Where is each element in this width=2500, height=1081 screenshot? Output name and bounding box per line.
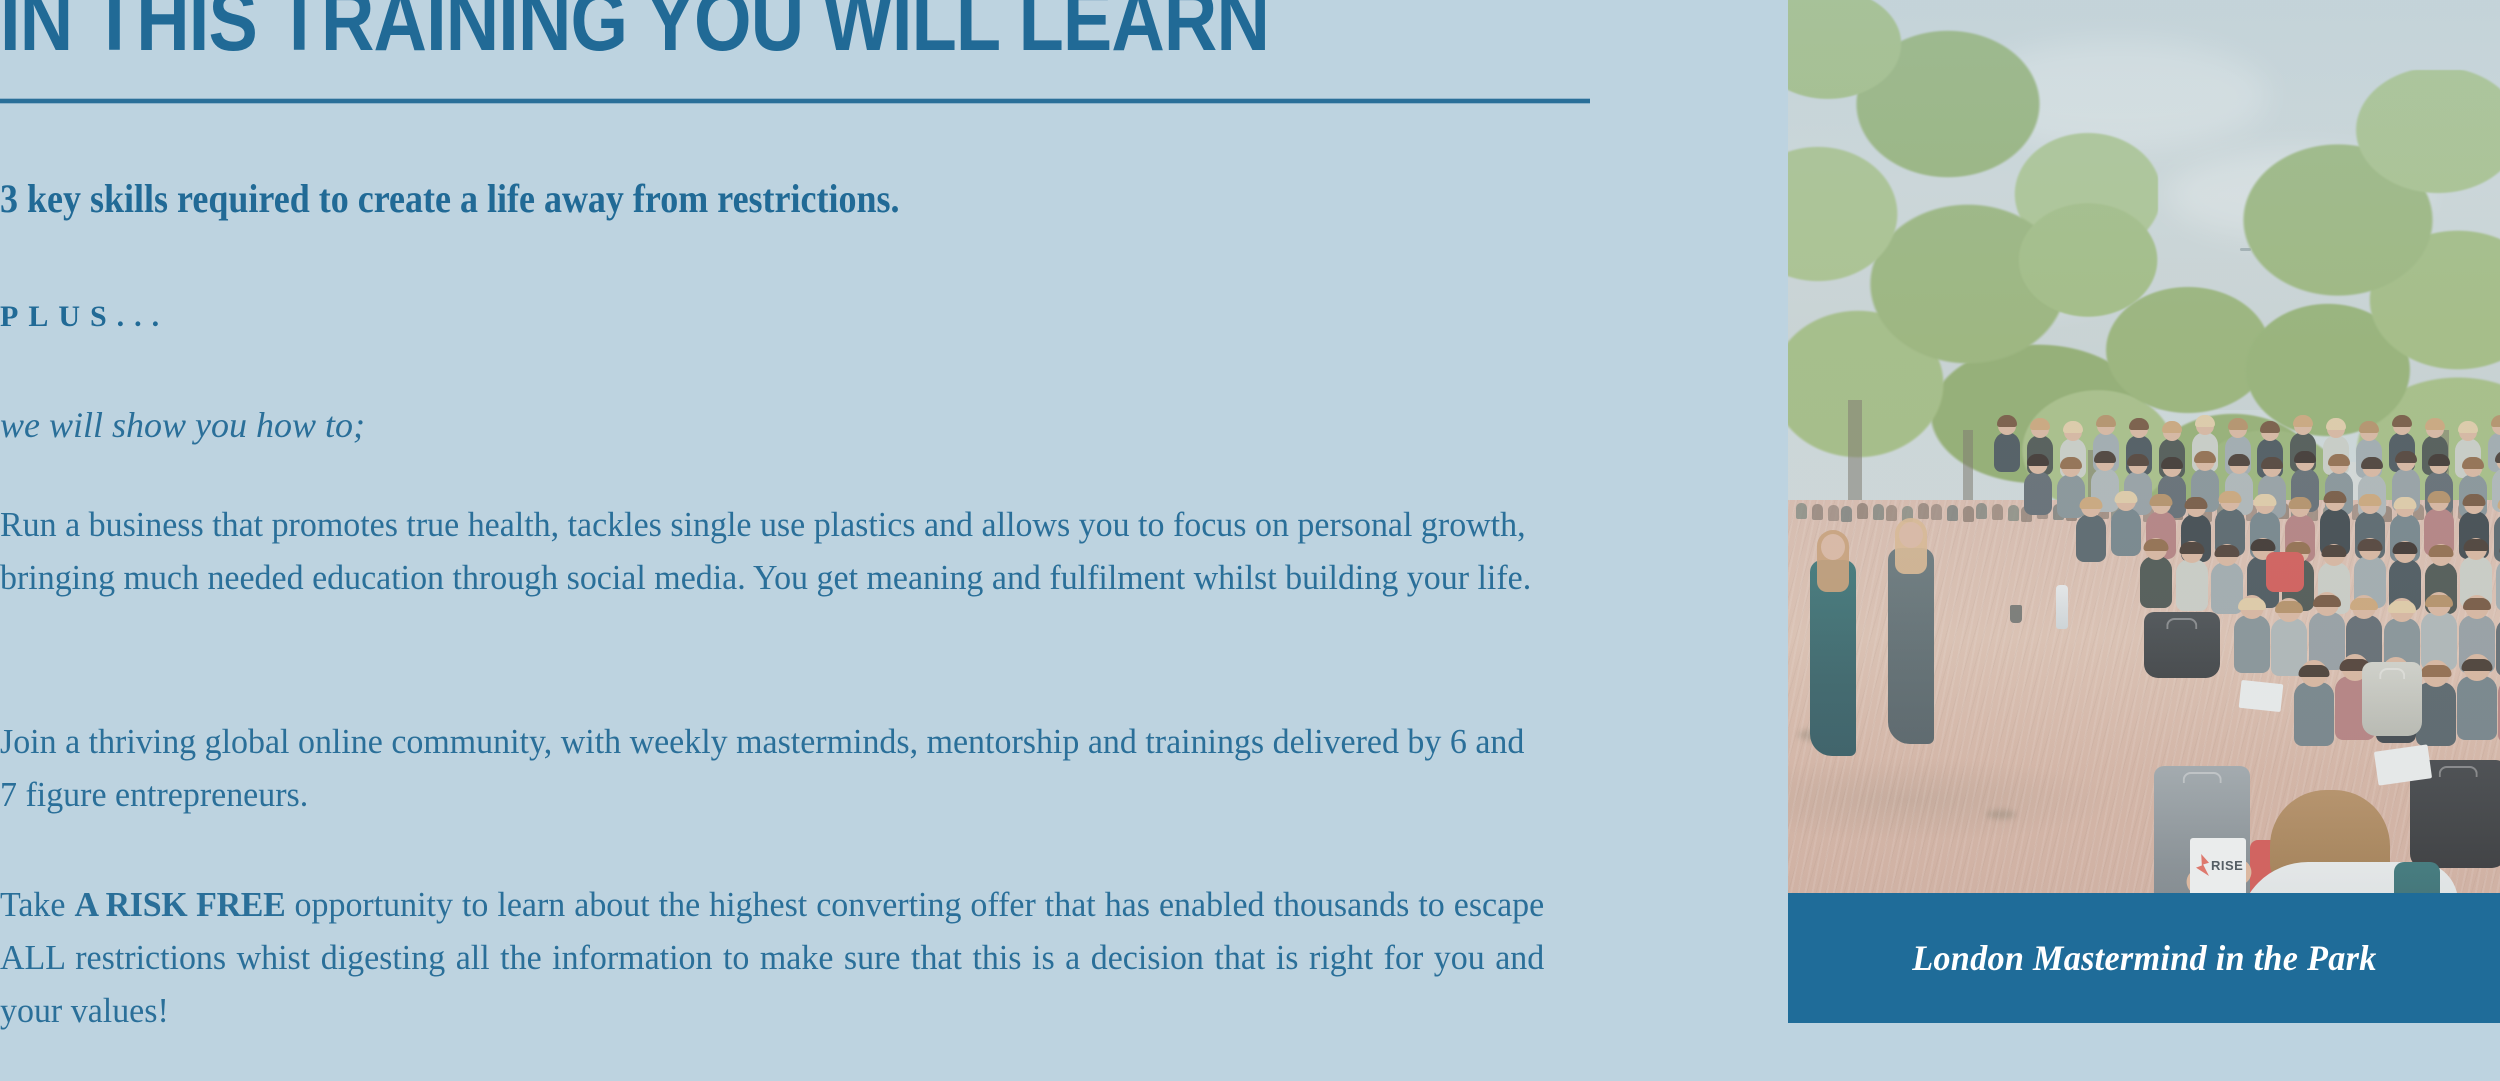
hair — [2428, 491, 2451, 503]
hair — [2463, 598, 2491, 610]
seated-person — [2024, 471, 2052, 515]
hair — [2063, 421, 2083, 433]
seated-person — [2496, 618, 2500, 676]
seated-person — [2294, 682, 2334, 746]
hair — [2194, 451, 2216, 463]
hair — [2238, 598, 2266, 610]
plus-label: PLUS... — [0, 300, 169, 334]
page-title: IN THIS TRAINING YOU WILL LEARN — [0, 0, 1372, 64]
hair — [2393, 542, 2418, 554]
hair — [2361, 457, 2383, 469]
hair — [2060, 457, 2082, 469]
hair — [2294, 451, 2316, 463]
hair — [2425, 418, 2445, 430]
hair — [2326, 418, 2346, 430]
notebook — [2239, 680, 2284, 712]
hair — [2463, 494, 2486, 506]
head — [1899, 522, 1923, 548]
title-underline-rule — [0, 98, 1590, 104]
photo-caption-text: London Mastermind in the Park — [1912, 937, 2376, 979]
hair — [2299, 665, 2330, 677]
seated-person — [2076, 514, 2106, 562]
hair — [2261, 457, 2283, 469]
seated-person — [2457, 676, 2497, 740]
hair — [2219, 491, 2242, 503]
hair — [2462, 457, 2484, 469]
hair — [2313, 595, 2341, 607]
photo-caption-bar: London Mastermind in the Park — [1788, 893, 2500, 1023]
hair — [2162, 421, 2182, 433]
hair — [2464, 539, 2489, 551]
hair — [2359, 494, 2382, 506]
lead-italic-line: we will show you how to; — [0, 404, 365, 446]
hair — [2144, 539, 2169, 551]
hair — [2161, 457, 2183, 469]
park-mastermind-photo: RISE — [1788, 0, 2500, 893]
hair — [2421, 665, 2452, 677]
subheadline: 3 key skills required to create a life a… — [0, 175, 1431, 223]
hair — [2491, 415, 2500, 427]
hair — [2228, 454, 2250, 466]
backpack — [2144, 612, 2220, 678]
hair — [2185, 497, 2208, 509]
body-paragraph: Take A RISK FREE opportunity to learn ab… — [0, 878, 1544, 1037]
red-garment — [2266, 552, 2304, 592]
seated-person — [2234, 615, 2270, 673]
coffee-cup — [2010, 605, 2022, 623]
seated-person — [2140, 556, 2172, 608]
hair — [2428, 454, 2450, 466]
hair — [2180, 542, 2205, 554]
hair — [2388, 601, 2416, 613]
seated-person — [1994, 432, 2020, 472]
hair — [1997, 415, 2017, 427]
seated-person — [2494, 514, 2500, 562]
hair — [2322, 545, 2347, 557]
hair — [2392, 415, 2412, 427]
media-panel: RISE London Mastermind in the Park — [1788, 0, 2500, 1026]
hair — [2260, 421, 2280, 433]
foreground-person-strap — [2394, 862, 2440, 893]
hair — [2324, 491, 2347, 503]
hair — [2462, 659, 2493, 671]
hair — [2215, 545, 2240, 557]
water-bottle — [2056, 585, 2068, 629]
hair — [2127, 454, 2149, 466]
rise-branded-card: RISE — [2190, 838, 2246, 893]
hair — [2027, 454, 2049, 466]
hair — [2094, 451, 2116, 463]
hair — [2080, 497, 2103, 509]
hair — [2395, 451, 2417, 463]
content-column: IN THIS TRAINING YOU WILL LEARN 3 key sk… — [0, 0, 1600, 1081]
hair — [2293, 415, 2313, 427]
hair — [2150, 494, 2173, 506]
hair — [2425, 595, 2453, 607]
seated-person — [2416, 682, 2456, 746]
seated-person — [2176, 559, 2208, 611]
body-paragraph: Join a thriving global online community,… — [0, 715, 1544, 821]
head — [1821, 534, 1845, 560]
standing-person — [1810, 560, 1856, 756]
hair — [2458, 421, 2478, 433]
rise-logo-label: RISE — [2211, 858, 2243, 873]
body-paragraph: Run a business that promotes true health… — [0, 498, 1544, 604]
hair — [2359, 421, 2379, 433]
hair — [2275, 601, 2303, 613]
hair — [2115, 491, 2138, 503]
hair — [2394, 497, 2417, 509]
hair — [2328, 454, 2350, 466]
hair — [2429, 545, 2454, 557]
standing-person — [1888, 548, 1934, 744]
hair — [2254, 494, 2277, 506]
hair — [2251, 539, 2276, 551]
tote-bag — [2362, 662, 2422, 736]
seated-person — [2496, 559, 2500, 611]
seated-person — [2111, 508, 2141, 556]
hair — [2129, 418, 2149, 430]
seated-person — [2057, 474, 2085, 518]
rise-logo-icon — [2196, 854, 2209, 876]
hair — [2195, 415, 2215, 427]
hair — [2030, 418, 2050, 430]
hair — [2289, 497, 2312, 509]
hair — [2096, 415, 2116, 427]
hair — [2358, 539, 2383, 551]
hair — [2350, 598, 2378, 610]
hair — [2228, 418, 2248, 430]
